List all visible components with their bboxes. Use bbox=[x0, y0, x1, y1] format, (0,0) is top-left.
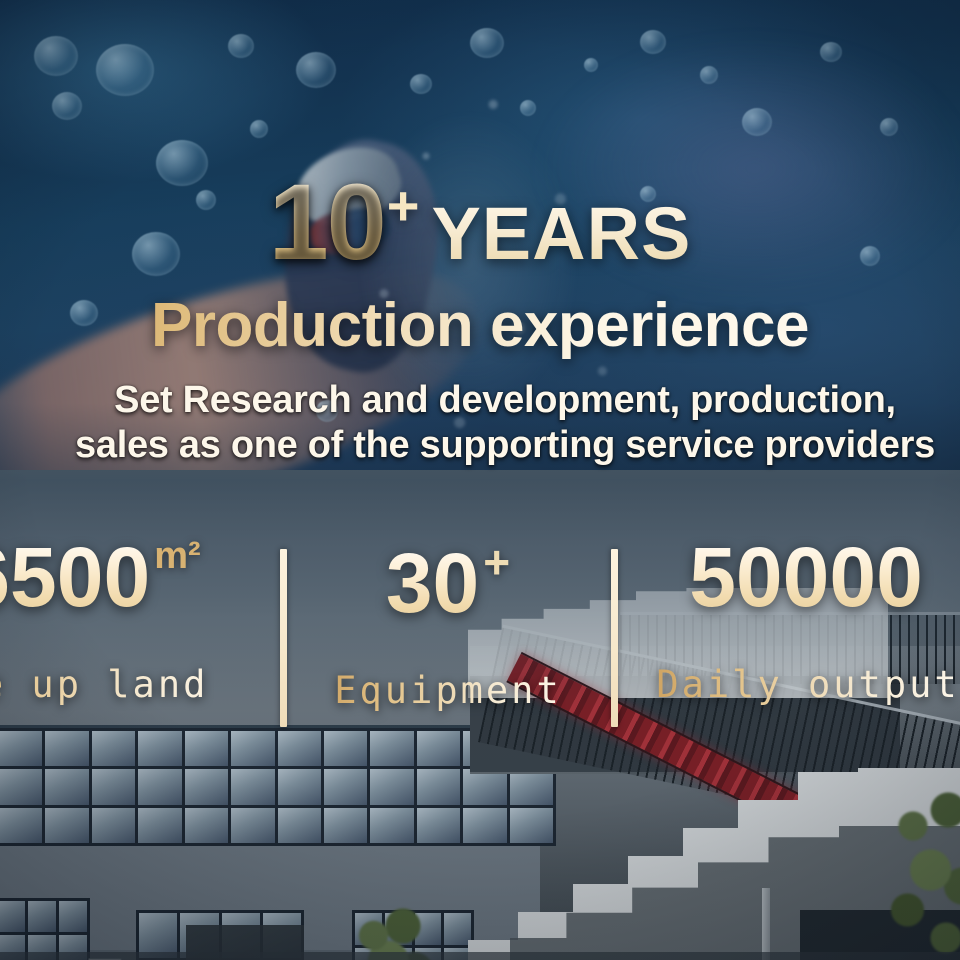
stat-value-output-wrap: 50000 bbox=[628, 535, 960, 619]
stat-value-equipment: 30 bbox=[386, 536, 479, 630]
stat-divider-2 bbox=[611, 549, 618, 727]
stat-value-equipment-wrap: 30+ bbox=[298, 535, 598, 625]
window-grid-left bbox=[0, 898, 90, 960]
stat-value-land: 6500 bbox=[0, 530, 150, 624]
stat-label-equipment: Equipment bbox=[298, 669, 598, 712]
stat-unit-land: m² bbox=[154, 535, 200, 577]
tagline: Set Research and development, production… bbox=[0, 378, 960, 468]
tagline-line-2: sales as one of the supporting service p… bbox=[0, 423, 960, 468]
stat-label-land: ke up land bbox=[0, 663, 282, 706]
stat-item-output: 50000 Daily output bbox=[628, 535, 960, 706]
stat-item-land: 6500m² ke up land bbox=[0, 535, 282, 706]
stats-row: 6500m² ke up land 30+ Equipment 50000 Da… bbox=[0, 535, 960, 735]
stat-value-land-wrap: 6500m² bbox=[0, 535, 282, 619]
light-pole bbox=[762, 888, 770, 960]
stat-divider-1 bbox=[280, 549, 287, 727]
years-number: 10 bbox=[269, 161, 385, 282]
tree-left bbox=[346, 900, 438, 960]
subheadline: Production experience bbox=[0, 290, 960, 361]
stat-item-equipment: 30+ Equipment bbox=[298, 535, 598, 712]
years-plus-superscript: + bbox=[387, 174, 420, 237]
years-word: YEARS bbox=[431, 192, 691, 275]
tagline-line-1: Set Research and development, production… bbox=[0, 378, 960, 423]
tree-right bbox=[880, 766, 960, 960]
stat-label-output: Daily output bbox=[628, 663, 960, 706]
banner-stage: 10+YEARS Production experience Set Resea… bbox=[0, 0, 960, 960]
stat-unit-equipment: + bbox=[483, 536, 510, 588]
headline: 10+YEARS bbox=[0, 168, 960, 276]
stat-value-output: 50000 bbox=[689, 530, 923, 624]
foreground-ground bbox=[0, 952, 960, 960]
